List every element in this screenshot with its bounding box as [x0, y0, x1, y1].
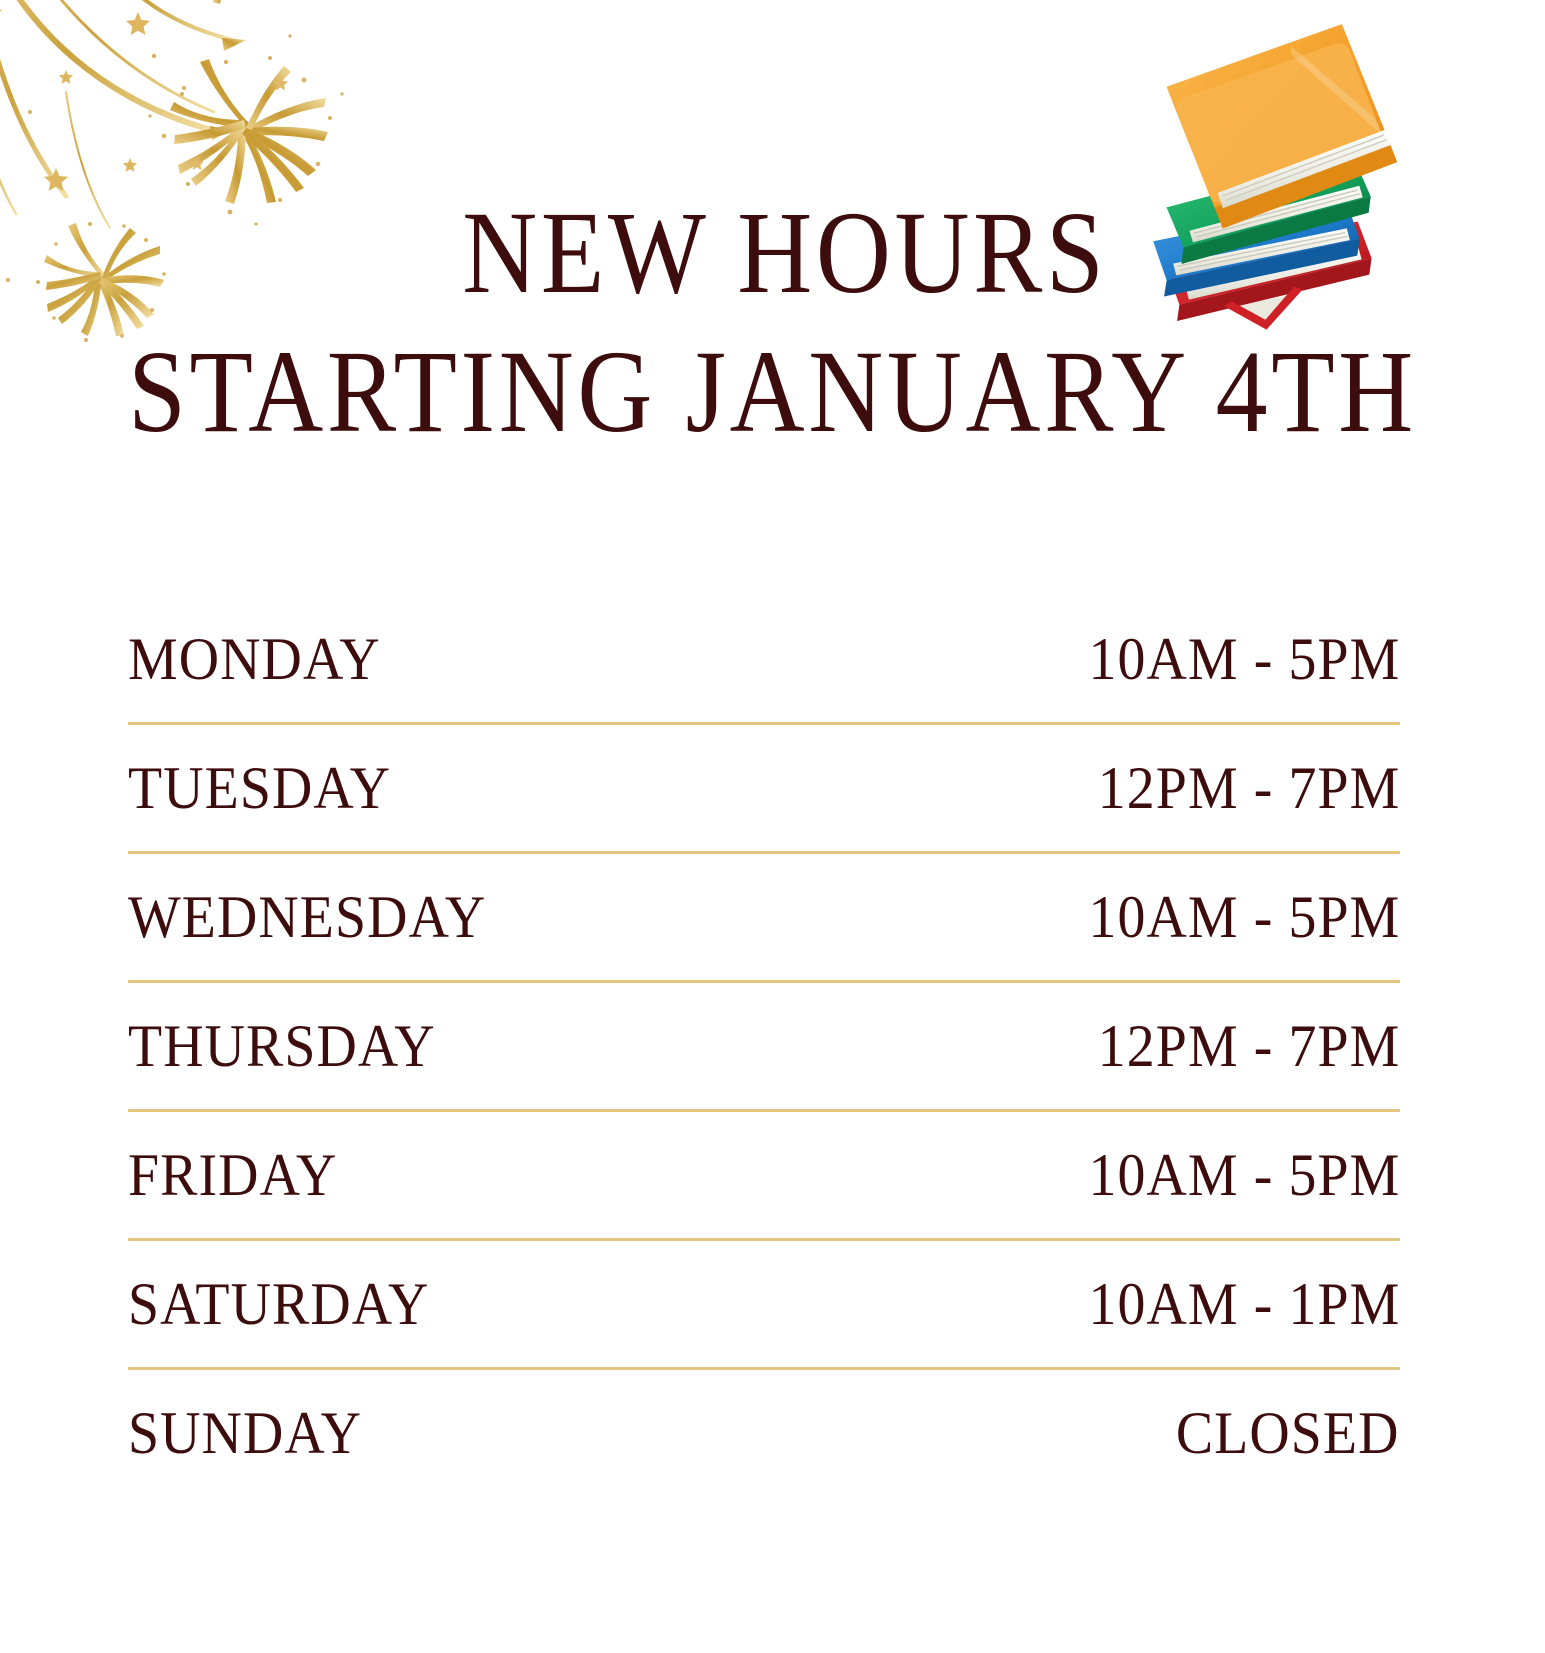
scattered-stars-group	[0, 4, 150, 191]
schedule-row-content: MONDAY10AM - 5PM	[128, 596, 1400, 722]
schedule-row-content: FRIDAY10AM - 5PM	[128, 1112, 1400, 1238]
hours-value: 12PM - 7PM	[1097, 725, 1400, 851]
schedule-row-content: THURSDAY12PM - 7PM	[128, 983, 1400, 1109]
hours-value: 10AM - 5PM	[1088, 1112, 1400, 1238]
firework-burst-3	[181, 0, 266, 4]
schedule-row-content: WEDNESDAY10AM - 5PM	[128, 854, 1400, 980]
day-label: THURSDAY	[128, 983, 436, 1109]
title-line-new-hours: NEW HOURS	[93, 196, 1453, 309]
schedule-row: THURSDAY12PM - 7PM	[128, 983, 1400, 1112]
ribbon-tips-group	[210, 38, 246, 140]
schedule-row: FRIDAY10AM - 5PM	[128, 1112, 1400, 1241]
day-label: FRIDAY	[128, 1112, 337, 1238]
day-label: SUNDAY	[128, 1370, 362, 1496]
hours-value: 10AM - 5PM	[1088, 854, 1400, 980]
schedule-row: WEDNESDAY10AM - 5PM	[128, 854, 1400, 983]
star-sparkles-1	[190, 76, 288, 171]
schedule-row-content: SUNDAYCLOSED	[128, 1370, 1400, 1496]
schedule-row: SATURDAY10AM - 1PM	[128, 1241, 1400, 1370]
day-label: TUESDAY	[128, 725, 391, 851]
title-line-starting-date: STARTING JANUARY 4TH	[93, 335, 1453, 448]
schedule-row-content: TUESDAY12PM - 7PM	[128, 725, 1400, 851]
hours-schedule-list: MONDAY10AM - 5PMTUESDAY12PM - 7PMWEDNESD…	[128, 596, 1400, 1496]
hours-value: CLOSED	[1176, 1370, 1400, 1496]
new-hours-poster: NEW HOURS STARTING JANUARY 4TH MONDAY10A…	[0, 0, 1545, 1653]
day-label: WEDNESDAY	[128, 854, 486, 980]
hours-value: 12PM - 7PM	[1097, 983, 1400, 1109]
schedule-row-content: SATURDAY10AM - 1PM	[128, 1241, 1400, 1367]
hours-value: 10AM - 5PM	[1088, 596, 1400, 722]
day-label: SATURDAY	[128, 1241, 429, 1367]
hours-value: 10AM - 1PM	[1088, 1241, 1400, 1367]
schedule-row: SUNDAYCLOSED	[128, 1370, 1400, 1496]
schedule-row: MONDAY10AM - 5PM	[128, 596, 1400, 725]
schedule-row: TUESDAY12PM - 7PM	[128, 725, 1400, 854]
page-title: NEW HOURS STARTING JANUARY 4TH	[0, 196, 1545, 449]
ribbon-trails-group	[0, 0, 232, 228]
day-label: MONDAY	[128, 596, 381, 722]
